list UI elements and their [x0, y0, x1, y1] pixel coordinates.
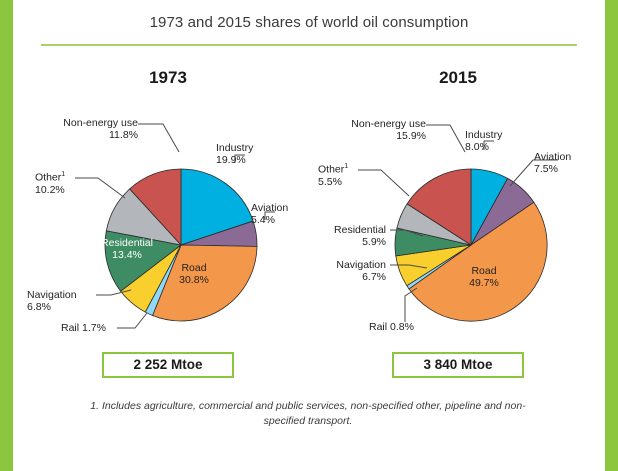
label-text: Non-energy use [63, 117, 138, 129]
label-value: 7.5% [534, 163, 558, 175]
label-residential-2015: Residential 5.9% [306, 224, 386, 249]
label-value: 11.8% [109, 129, 138, 141]
label-text: Rail 0.8% [369, 321, 414, 333]
label-road-1973: Road 30.8% [164, 262, 224, 287]
label-value: 15.9% [396, 130, 426, 142]
label-text: Other [35, 172, 61, 184]
label-value: 5.4% [251, 214, 275, 226]
footnote-text: 1. Includes agriculture, commercial and … [73, 399, 543, 429]
pie-chart-2015 [395, 169, 547, 321]
label-value: 6.8% [27, 301, 51, 313]
label-text: Other [318, 164, 344, 176]
label-navigation-1973: Navigation 6.8% [27, 289, 77, 314]
label-text: Rail 1.7% [61, 322, 106, 334]
label-residential-1973: Residential 13.4% [91, 237, 163, 262]
footnote-marker: 1 [61, 171, 65, 178]
label-value: 30.8% [179, 274, 209, 286]
label-other-2015: Other1 5.5% [318, 163, 348, 188]
label-rail-2015: Rail 0.8% [369, 321, 414, 333]
leader-line [358, 170, 409, 196]
label-navigation-2015: Navigation 6.7% [301, 259, 386, 284]
label-value: 5.9% [362, 236, 386, 248]
label-other-1973: Other1 10.2% [35, 171, 65, 196]
label-text: Road [471, 265, 496, 277]
left-green-bar [0, 0, 13, 471]
label-industry-1973: Industry 19.9% [216, 142, 253, 167]
label-text: Road [181, 262, 206, 274]
label-text: Aviation [534, 151, 571, 163]
label-text: Residential [334, 224, 386, 236]
leader-line [138, 124, 179, 152]
label-industry-2015: Industry 8.0% [465, 129, 502, 154]
label-text: Industry [216, 142, 253, 154]
label-road-2015: Road 49.7% [454, 265, 514, 290]
label-value: 5.5% [318, 176, 342, 188]
right-green-bar [605, 0, 618, 471]
label-value: 8.0% [465, 141, 489, 153]
page-body: 1973 and 2015 shares of world oil consum… [13, 0, 605, 471]
total-box-2015: 3 840 Mtoe [392, 352, 524, 378]
label-text: Navigation [336, 259, 386, 271]
label-text: Industry [465, 129, 502, 141]
label-text: Non-energy use [351, 118, 426, 130]
leader-line [117, 313, 147, 328]
label-value: 10.2% [35, 184, 65, 196]
label-value: 6.7% [362, 271, 386, 283]
label-text: Navigation [27, 289, 77, 301]
label-nonenergy-1973: Non-energy use 11.8% [28, 117, 138, 142]
leader-line [75, 178, 125, 198]
footnote-marker: 1 [344, 163, 348, 170]
label-nonenergy-2015: Non-energy use 15.9% [316, 118, 426, 143]
total-box-1973: 2 252 Mtoe [102, 352, 234, 378]
label-text: Residential [101, 237, 153, 249]
label-text: Aviation [251, 202, 288, 214]
label-value: 13.4% [112, 249, 142, 261]
label-value: 49.7% [469, 277, 499, 289]
label-aviation-2015: Aviation 7.5% [534, 151, 571, 176]
label-rail-1973: Rail 1.7% [61, 322, 106, 334]
label-aviation-1973: Aviation 5.4% [251, 202, 288, 227]
leader-line [426, 125, 465, 152]
label-value: 19.9% [216, 154, 246, 166]
